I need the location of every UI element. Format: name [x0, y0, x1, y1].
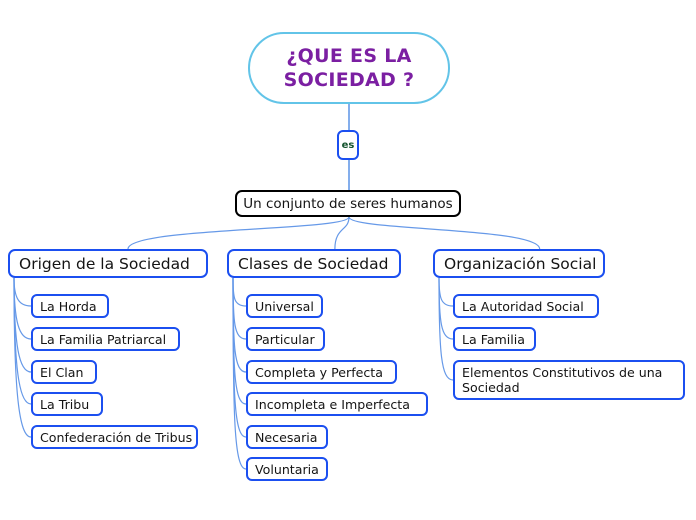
- leaf-node-2-2[interactable]: Elementos Constitutivos de una Sociedad: [453, 360, 685, 400]
- leaf-node-1-4[interactable]: Necesaria: [246, 425, 328, 449]
- leaf-node-1-3[interactable]: Incompleta e Imperfecta: [246, 392, 428, 416]
- branch-node-label: Clases de Sociedad: [238, 255, 388, 273]
- leaf-node-label: La Familia: [462, 332, 525, 347]
- leaf-node-0-1[interactable]: La Familia Patriarcal: [31, 327, 180, 351]
- leaf-node-label: La Tribu: [40, 397, 89, 412]
- relation-node-label: es: [342, 140, 355, 151]
- leaf-node-0-0[interactable]: La Horda: [31, 294, 109, 318]
- leaf-node-label: La Horda: [40, 299, 97, 314]
- leaf-node-label: Voluntaria: [255, 462, 319, 477]
- root-node[interactable]: ¿QUE ES LASOCIEDAD ?: [248, 32, 450, 104]
- leaf-node-label: Incompleta e Imperfecta: [255, 397, 410, 412]
- leaf-node-1-0[interactable]: Universal: [246, 294, 323, 318]
- leaf-node-label: La Autoridad Social: [462, 299, 584, 314]
- branch-node-label: Organización Social: [444, 255, 596, 273]
- leaf-node-1-2[interactable]: Completa y Perfecta: [246, 360, 397, 384]
- leaf-node-label: Elementos Constitutivos de una Sociedad: [462, 365, 676, 395]
- root-node-label: ¿QUE ES LASOCIEDAD ?: [284, 44, 415, 92]
- leaf-node-label: Confederación de Tribus: [40, 430, 192, 445]
- leaf-node-label: Necesaria: [255, 430, 318, 445]
- leaf-node-0-4[interactable]: Confederación de Tribus: [31, 425, 198, 449]
- relation-node-es[interactable]: es: [337, 130, 359, 160]
- leaf-node-1-5[interactable]: Voluntaria: [246, 457, 328, 481]
- leaf-node-label: Completa y Perfecta: [255, 365, 383, 380]
- main-node-label: Un conjunto de seres humanos: [243, 196, 452, 212]
- branch-node-1[interactable]: Clases de Sociedad: [227, 249, 401, 278]
- leaf-node-1-1[interactable]: Particular: [246, 327, 325, 351]
- leaf-node-0-3[interactable]: La Tribu: [31, 392, 103, 416]
- leaf-node-label: Particular: [255, 332, 315, 347]
- leaf-node-label: La Familia Patriarcal: [40, 332, 166, 347]
- main-node[interactable]: Un conjunto de seres humanos: [235, 190, 461, 217]
- branch-node-label: Origen de la Sociedad: [19, 255, 190, 273]
- branch-node-2[interactable]: Organización Social: [433, 249, 605, 278]
- leaf-node-2-0[interactable]: La Autoridad Social: [453, 294, 599, 318]
- leaf-node-label: El Clan: [40, 365, 83, 380]
- leaf-node-0-2[interactable]: El Clan: [31, 360, 97, 384]
- leaf-node-2-1[interactable]: La Familia: [453, 327, 536, 351]
- branch-node-0[interactable]: Origen de la Sociedad: [8, 249, 208, 278]
- mindmap-canvas: ¿QUE ES LASOCIEDAD ? es Un conjunto de s…: [0, 0, 696, 520]
- leaf-node-label: Universal: [255, 299, 314, 314]
